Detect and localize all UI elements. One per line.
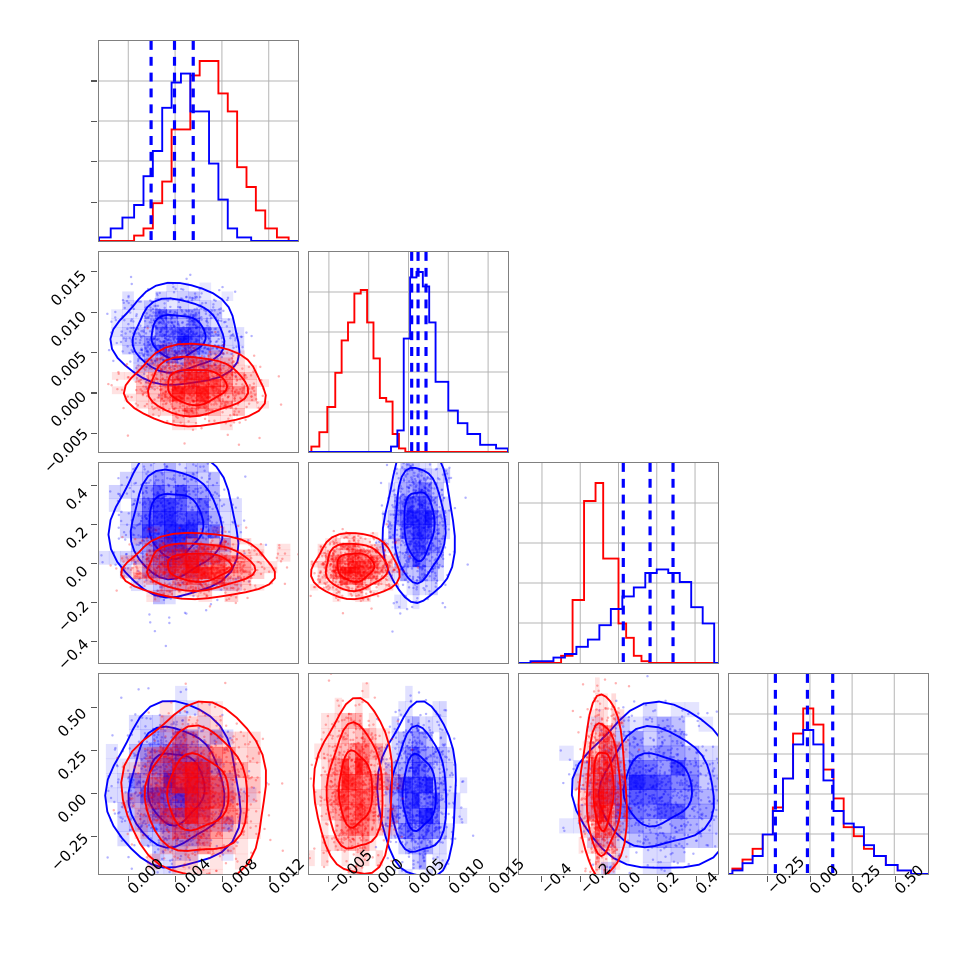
diagonal-histogram-2 bbox=[518, 462, 719, 664]
diagonal-histogram-3 bbox=[728, 673, 929, 875]
diagonal-histogram-1 bbox=[308, 251, 509, 453]
yticklabel-row1-3: 0.010 bbox=[47, 307, 90, 350]
yticklabel-row3-0: −0.25 bbox=[47, 829, 92, 874]
ytick-row2-0 bbox=[91, 641, 97, 642]
yticklabel-row3-2: 0.25 bbox=[54, 747, 90, 783]
yticklabel-row2-0: −0.4 bbox=[54, 636, 92, 674]
diagonal-histogram-0 bbox=[98, 40, 299, 242]
yticklabel-row1-2: 0.005 bbox=[47, 348, 90, 391]
yticklabel-row2-1: −0.2 bbox=[54, 597, 92, 635]
ytick-row2-1 bbox=[91, 602, 97, 603]
scatter-panel-3-1 bbox=[308, 673, 509, 875]
ytick-row3-0 bbox=[91, 836, 97, 837]
ytick-row3-1 bbox=[91, 793, 97, 794]
ytick-diag0-3 bbox=[91, 121, 97, 122]
ytick-row1-1 bbox=[91, 392, 97, 393]
scatter-panel-2-1 bbox=[308, 462, 509, 664]
yticklabel-row1-0: −0.005 bbox=[40, 425, 92, 477]
ytick-row3-2 bbox=[91, 750, 97, 751]
yticklabel-row3-3: 0.50 bbox=[54, 704, 90, 740]
yticklabel-row2-2: 0.0 bbox=[62, 562, 92, 592]
ytick-row3-3 bbox=[91, 707, 97, 708]
scatter-panel-2-0 bbox=[98, 462, 299, 664]
scatter-panel-3-0 bbox=[98, 673, 299, 875]
ytick-row1-2 bbox=[91, 352, 97, 353]
ytick-row1-3 bbox=[91, 312, 97, 313]
yticklabel-row2-3: 0.2 bbox=[62, 523, 92, 553]
scatter-panel-1-0 bbox=[98, 251, 299, 453]
ytick-diag0-1 bbox=[91, 202, 97, 203]
corner-plot-figure: 0.0000.0040.0080.012−0.0050.0000.0050.01… bbox=[0, 0, 970, 970]
ytick-diag0-4 bbox=[91, 80, 97, 81]
yticklabel-row1-1: 0.000 bbox=[47, 388, 90, 431]
scatter-panel-3-2 bbox=[518, 673, 719, 875]
yticklabel-row1-4: 0.015 bbox=[47, 267, 90, 310]
ytick-diag0-2 bbox=[91, 161, 97, 162]
ytick-row1-4 bbox=[91, 271, 97, 272]
yticklabel-row2-4: 0.4 bbox=[62, 484, 92, 514]
ytick-row1-0 bbox=[91, 433, 97, 434]
yticklabel-row3-1: 0.00 bbox=[54, 790, 90, 826]
ytick-row2-2 bbox=[91, 563, 97, 564]
ytick-row2-4 bbox=[91, 485, 97, 486]
ytick-row2-3 bbox=[91, 524, 97, 525]
